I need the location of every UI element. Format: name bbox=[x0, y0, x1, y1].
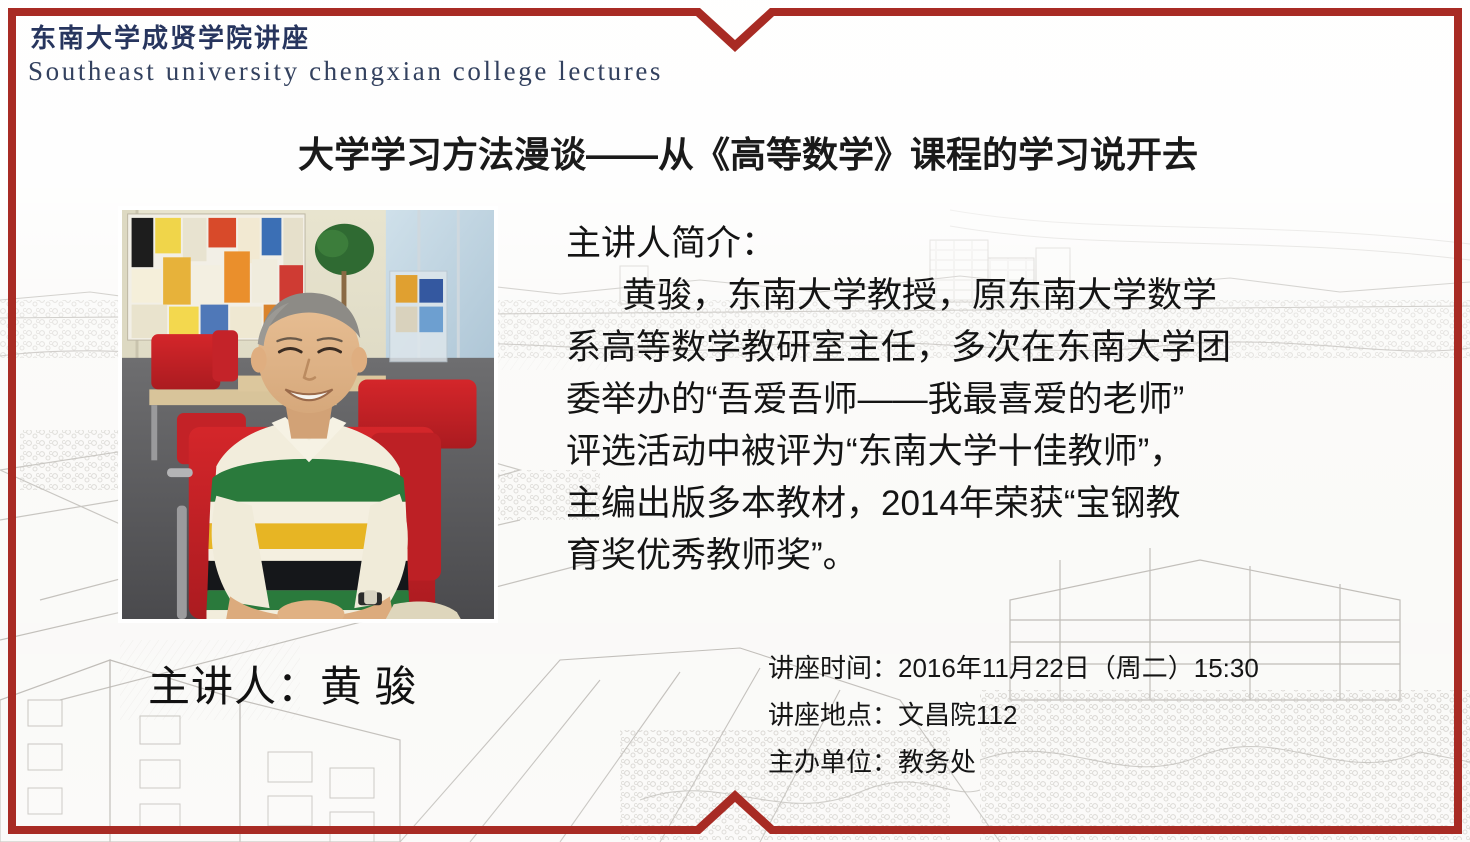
bio-line: 委举办的“吾爱吾师——我最喜爱的老师” bbox=[566, 374, 1426, 426]
bio-line: 黄骏，东南大学教授，原东南大学数学 bbox=[566, 270, 1426, 322]
bio-line: 育奖优秀教师奖”。 bbox=[566, 530, 1426, 582]
lecture-place-row: 讲座地点：文昌院112 bbox=[768, 692, 1259, 739]
lecture-organizer-row: 主办单位：教务处 bbox=[768, 739, 1259, 786]
lecture-details: 讲座时间：2016年11月22日（周二）15:30 讲座地点：文昌院112 主办… bbox=[768, 645, 1259, 786]
lecture-title: 大学学习方法漫谈——从《高等数学》课程的学习说开去 bbox=[0, 126, 1470, 178]
bio-heading: 主讲人简介： bbox=[566, 218, 1426, 270]
bio-line: 系高等数学教研室主任，多次在东南大学团 bbox=[566, 322, 1426, 374]
speaker-bio: 主讲人简介： 黄骏，东南大学教授，原东南大学数学 系高等数学教研室主任，多次在东… bbox=[566, 218, 1426, 582]
lecture-poster: 东南大学成贤学院讲座 Southeast university chengxia… bbox=[0, 0, 1470, 842]
bio-line: 评选活动中被评为“东南大学十佳教师”， bbox=[566, 426, 1426, 478]
poster-header-chinese: 东南大学成贤学院讲座 bbox=[30, 18, 310, 55]
poster-content: 东南大学成贤学院讲座 Southeast university chengxia… bbox=[0, 0, 1470, 842]
poster-header-english: Southeast university chengxian college l… bbox=[28, 56, 663, 87]
speaker-photo-frame bbox=[119, 207, 497, 622]
speaker-photo bbox=[122, 210, 494, 619]
bio-line: 主编出版多本教材，2014年荣获“宝钢教 bbox=[566, 478, 1426, 530]
speaker-name-label: 主讲人：黄 骏 bbox=[148, 653, 418, 714]
lecture-time-row: 讲座时间：2016年11月22日（周二）15:30 bbox=[768, 645, 1259, 692]
